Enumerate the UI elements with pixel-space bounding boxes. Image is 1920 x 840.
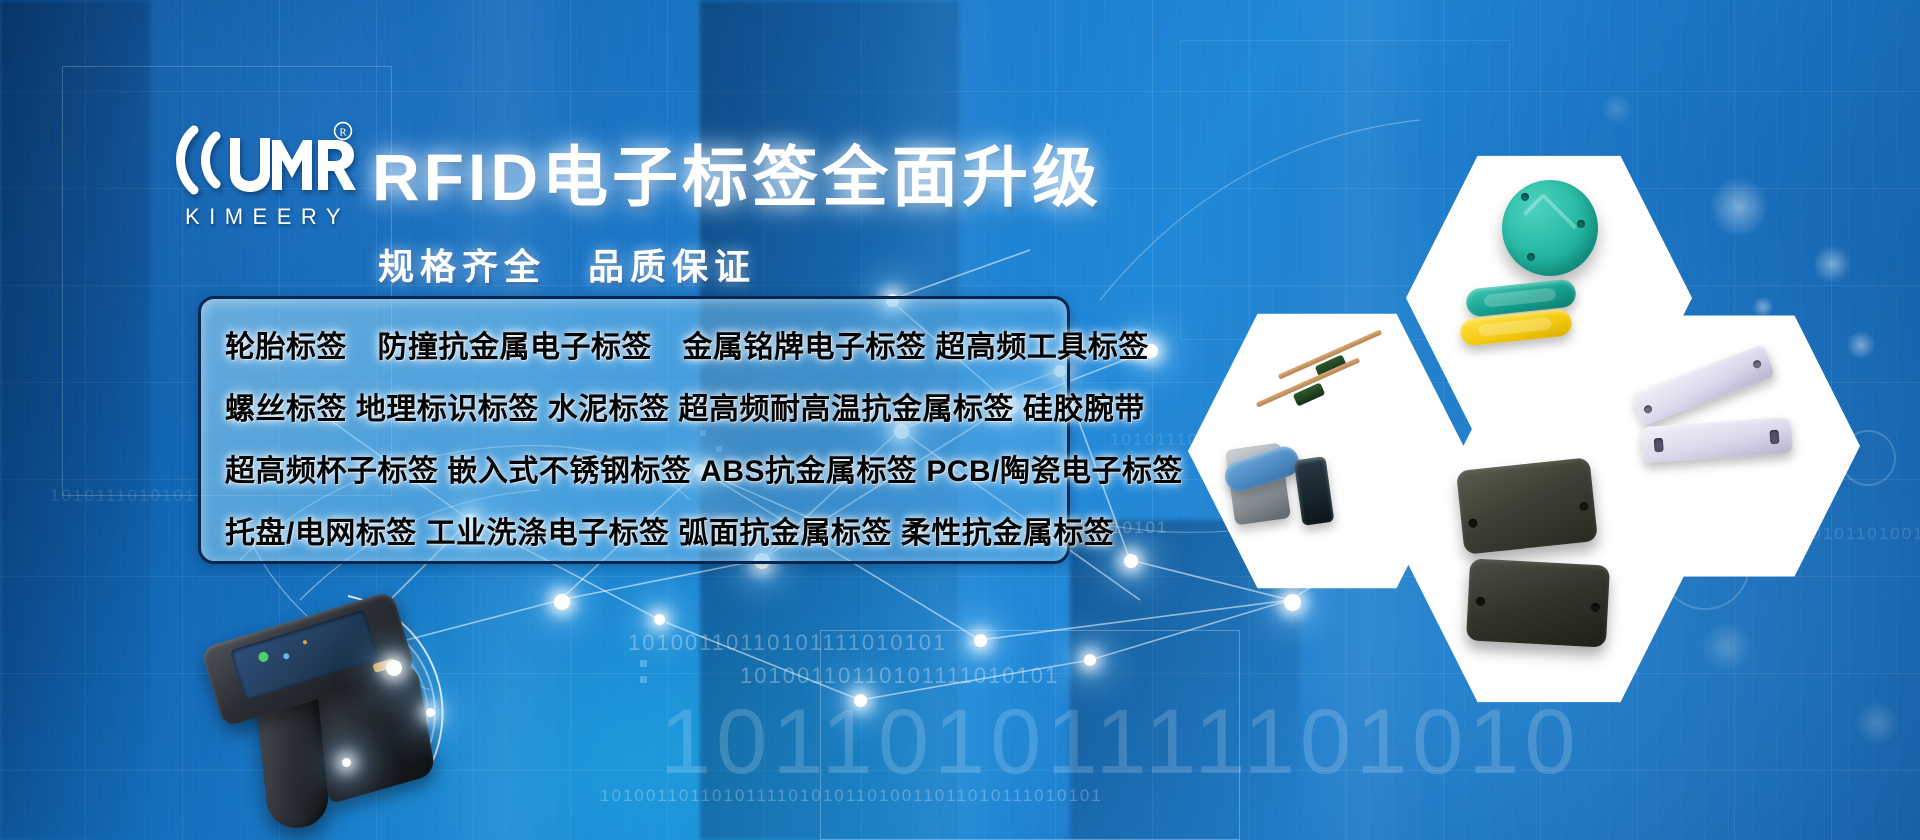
network-node (554, 594, 570, 610)
screw-hole (1579, 501, 1589, 511)
page-title: RFID电子标签全面升级 (372, 124, 1102, 220)
screw-hole (1527, 253, 1535, 261)
screw-slot (1769, 430, 1779, 445)
list-item: 托盘/电网标签 工业洗涤电子标签 弧面抗金属标签 柔性抗金属标签 (225, 508, 1049, 552)
network-node (1124, 554, 1138, 568)
kimeery-logo[interactable]: R KIMEERY (168, 118, 358, 230)
screw-hole (1468, 518, 1478, 528)
white-bar-tag-lower (1641, 417, 1793, 463)
screw-hole (1476, 596, 1485, 605)
binary-text: 10100110110101111010101 (628, 630, 947, 656)
binary-text-large: 10110101111101010 (660, 690, 1581, 795)
teal-round-disc-tag (1502, 180, 1598, 276)
logo-wordmark: KIMEERY (168, 204, 358, 230)
signal-node (386, 660, 402, 676)
handheld-rfid-reader[interactable] (190, 600, 490, 840)
page-subtitle: 规格齐全 品质保证 (378, 238, 756, 290)
dark-plate-tag-bottom (1466, 558, 1610, 647)
screw-slot (1654, 438, 1664, 453)
product-category-list: 轮胎标签 防撞抗金属电子标签 金属铭牌电子标签 超高频工具标签 螺丝标签 地理标… (198, 296, 1070, 564)
network-node (1284, 594, 1301, 611)
signal-node (342, 758, 351, 767)
network-node (1084, 654, 1096, 666)
binary-text: 1010111010101 (50, 486, 196, 506)
circuit-dot (640, 676, 647, 683)
screw-hole (1591, 603, 1600, 612)
white-bar-tag-upper (1631, 344, 1776, 427)
screw-hole (1643, 404, 1653, 414)
binary-text: 10100110110101111010101 (740, 663, 1059, 689)
list-item: 超高频杯子标签 嵌入式不锈钢标签 ABS抗金属标签 PCB/陶瓷电子标签 (225, 446, 1049, 490)
list-item: 轮胎标签 防撞抗金属电子标签 金属铭牌电子标签 超高频工具标签 (225, 322, 1049, 366)
network-node (974, 634, 987, 647)
network-node (654, 614, 665, 625)
svg-text:R: R (339, 127, 347, 139)
dark-plate-tag-top (1456, 457, 1598, 555)
screw-hole (1577, 220, 1585, 228)
rfid-promo-banner: 10110101111101010 1010011011010111101010… (0, 0, 1920, 840)
dark-bar-tag (1294, 456, 1335, 526)
signal-node (426, 708, 435, 717)
list-item: 螺丝标签 地理标识标签 水泥标签 超高频耐高温抗金属标签 硅胶腕带 (225, 384, 1049, 428)
binary-text: 1010011011010111101010110100110110101110… (600, 786, 1103, 806)
screw-hole (1752, 359, 1762, 369)
kmr-wave-logo-icon: R (168, 118, 358, 200)
screw-hole (1521, 193, 1529, 201)
circuit-dot (640, 660, 647, 667)
